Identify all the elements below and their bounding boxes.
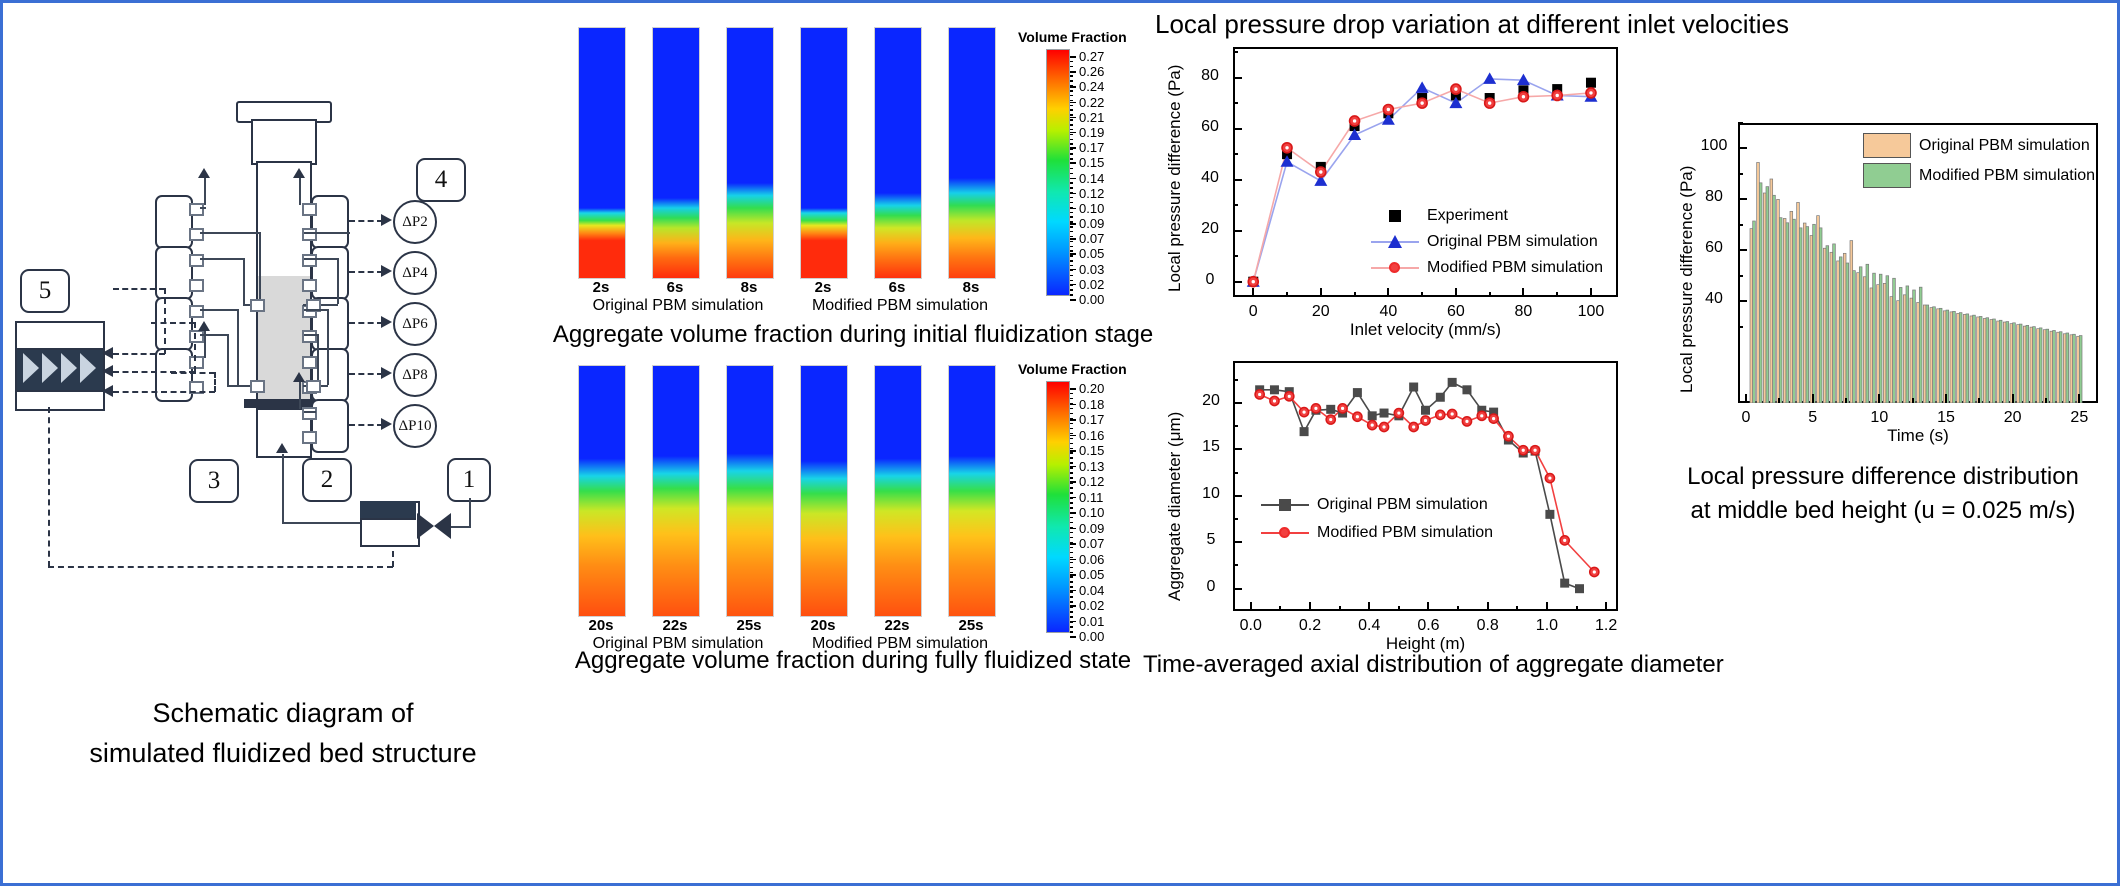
schematic-label-1: 1 [447, 458, 491, 502]
axis-tick [1738, 224, 1743, 226]
axis-tick-label: 0 [1233, 303, 1273, 321]
colorbar-tick-mark [1070, 435, 1076, 437]
colorbar-minor-tick [1070, 433, 1073, 435]
colorbar-minor-tick [1070, 532, 1073, 534]
bar-caption-line2: at middle bed height (u = 0.025 m/s) [1633, 497, 2120, 525]
axis-tick-label: 60 [1193, 118, 1227, 136]
axis-tick-label: 5 [1195, 531, 1227, 549]
axis-tick-label: 15 [1195, 438, 1227, 456]
axis-tick [1233, 255, 1238, 257]
colorbar-minor-tick [1070, 467, 1073, 469]
colorbar-minor-tick [1070, 100, 1073, 102]
signal-line [171, 372, 215, 374]
chart-pressure-drop: Local pressure drop variation at differe… [1143, 7, 1643, 347]
colorbar-minor-tick [1070, 542, 1073, 544]
colorbar-minor-tick [1070, 236, 1073, 238]
axis-tick-label: 10 [1195, 485, 1227, 503]
contour-image-orig-25s [726, 365, 774, 617]
axis-tick [1489, 292, 1491, 297]
signal-arrow-icon [381, 316, 392, 328]
axis-tick [1387, 288, 1389, 297]
colorbar-minor-tick [1070, 586, 1073, 588]
daq-in-arrow-icon [102, 347, 113, 359]
colorbar-minor-tick [1070, 105, 1073, 107]
colorbar-tick-label: 0.10 [1079, 505, 1104, 520]
legend-swatch-circle [1371, 262, 1419, 274]
contour-image-mod-25s [948, 365, 996, 617]
colorbar-minor-tick [1070, 280, 1073, 282]
dp-gauge-8: ΔP8 [393, 353, 437, 397]
colorbar-minor-tick [1070, 393, 1073, 395]
legend-label: Original PBM simulation [1317, 496, 1488, 514]
colorbar-minor-tick [1070, 631, 1073, 633]
contour-image-orig-6s [652, 27, 700, 279]
colorbar-minor-tick [1070, 173, 1073, 175]
axis-tick-label: 0.6 [1406, 617, 1450, 635]
contour-time-label: 22s [874, 617, 920, 634]
colorbar-tick-label: 0.04 [1079, 583, 1104, 598]
colorbar-minor-tick [1070, 452, 1073, 454]
signal-arrow-icon [381, 418, 392, 430]
axis-tick [1309, 602, 1311, 611]
axis-tick-label: 25 [2061, 409, 2097, 427]
colorbar-minor-tick [1070, 182, 1073, 184]
inlet-line [282, 454, 284, 482]
vent-line [299, 178, 301, 205]
colorbar-minor-tick [1070, 388, 1073, 390]
colorbar-minor-tick [1070, 621, 1073, 623]
sensor-port [302, 254, 317, 267]
colorbar-tick-label: 0.22 [1079, 95, 1104, 110]
colorbar-minor-tick [1070, 289, 1073, 291]
colorbar-tick-label: 0.12 [1079, 474, 1104, 489]
contour-time-label: 2s [578, 279, 624, 296]
legend-item-experiment: Experiment [1371, 207, 1508, 225]
colorbar-minor-tick [1070, 591, 1073, 593]
axis-tick [1233, 102, 1238, 104]
contour-image-mod-6s [874, 27, 922, 279]
colorbar-tick-label: 0.05 [1079, 567, 1104, 582]
contour-image-orig-22s [652, 365, 700, 617]
colorbar-minor-tick [1070, 562, 1073, 564]
legend-label: Modified PBM simulation [1427, 259, 1603, 277]
colorbar-minor-tick [1070, 487, 1073, 489]
chart-legend: Original PBM simulation Modified PBM sim… [1863, 133, 2113, 193]
axis-tick-label: 15 [1928, 409, 1964, 427]
signal-arrow-icon [381, 214, 392, 226]
colorbar-minor-tick [1070, 557, 1073, 559]
inlet-line [451, 526, 471, 528]
legend-item-modified-pbm: Modified PBM simulation [1371, 259, 1603, 277]
colorbar-title: Volume Fraction [1018, 29, 1127, 45]
axis-tick [1576, 606, 1578, 611]
signal-line [349, 271, 383, 273]
colorbar-minor-tick [1070, 497, 1073, 499]
colorbar-tick-label: 0.15 [1079, 443, 1104, 458]
legend-item-original-pbm: Original PBM simulation [1261, 496, 1488, 514]
axis-tick [1339, 606, 1341, 611]
colorbar-minor-tick [1070, 202, 1073, 204]
contour-time-label: 25s [726, 617, 772, 634]
signal-arrow-icon [381, 265, 392, 277]
axis-tick [1233, 51, 1238, 53]
axis-tick-label: 0 [1193, 271, 1227, 289]
axis-tick-label: 0.2 [1288, 617, 1332, 635]
colorbar-minor-tick [1070, 438, 1073, 440]
colorbar-minor-tick [1070, 606, 1073, 608]
colorbar-minor-tick [1070, 477, 1073, 479]
axis-tick [1368, 602, 1370, 611]
chart-bar-pressure: 4060801000510152025 Local pressure diffe… [1663, 73, 2113, 543]
axis-tick [1738, 275, 1743, 277]
tube [237, 309, 239, 385]
axis-tick [1354, 292, 1356, 297]
colorbar-tick-label: 0.02 [1079, 277, 1104, 292]
contour-time-label: 8s [726, 279, 772, 296]
legend-item-modified-pbm: Modified PBM simulation [1863, 163, 2095, 188]
tube [337, 258, 339, 304]
signal-line [151, 322, 195, 324]
axis-tick [1738, 198, 1747, 200]
colorbar-minor-tick [1070, 443, 1073, 445]
contour-image-mod-22s [874, 365, 922, 617]
axis-tick [1590, 288, 1592, 297]
axis-tick [1878, 394, 1880, 403]
colorbar-tick-mark [1070, 117, 1076, 119]
colorbar-minor-tick [1070, 212, 1073, 214]
colorbar-minor-tick [1070, 492, 1073, 494]
sensor-left-3 [155, 297, 193, 351]
colorbar-minor-tick [1070, 611, 1073, 613]
bar-caption-line1: Local pressure difference distribution [1633, 463, 2120, 491]
colorbar-tick-mark [1070, 223, 1076, 225]
colorbar-minor-tick [1070, 413, 1073, 415]
axis-tick-label: 100 [1696, 137, 1732, 155]
colorbar-minor-tick [1070, 482, 1073, 484]
contour-top-caption: Aggregate volume fraction during initial… [453, 321, 1253, 349]
axis-tick [1457, 606, 1459, 611]
contour-time-label: 6s [652, 279, 698, 296]
tube [243, 258, 245, 304]
axis-tick-label: 40 [1368, 303, 1408, 321]
axis-tick [1233, 402, 1242, 404]
legend-label: Original PBM simulation [1919, 137, 2090, 155]
axis-tick [1605, 602, 1607, 611]
colorbar-minor-tick [1070, 255, 1073, 257]
colorbar-minor-tick [1070, 527, 1073, 529]
axis-tick [1286, 292, 1288, 297]
colorbar-minor-tick [1070, 275, 1073, 277]
chart-aggregate-caption: Time-averaged axial distribution of aggr… [1143, 651, 1783, 679]
colorbar-tick-label: 0.10 [1079, 201, 1104, 216]
axis-tick [1978, 398, 1980, 403]
tube [200, 258, 244, 260]
daq-in-arrow-icon [102, 365, 113, 377]
sensor-port [302, 279, 317, 292]
tube [304, 232, 350, 234]
tube [304, 334, 318, 336]
tube [317, 334, 319, 385]
axis-tick [1738, 147, 1747, 149]
axis-tick-label: 20 [1195, 392, 1227, 410]
chart-y-axis-label: Aggregate diameter (μm) [1165, 412, 1185, 601]
chart-legend: Original PBM simulation Modified PBM sim… [1261, 496, 1521, 552]
axis-tick [1233, 518, 1238, 520]
contour-group-label-original: Original PBM simulation [563, 297, 793, 315]
colorbar-tick-mark [1070, 574, 1076, 576]
contour-time-label: 6s [874, 279, 920, 296]
colorbar-minor-tick [1070, 71, 1073, 73]
colorbar-minor-tick [1070, 168, 1073, 170]
axis-tick [1556, 292, 1558, 297]
daq-in-arrow-icon [102, 385, 113, 397]
axis-tick [1233, 379, 1238, 381]
axis-tick [1945, 394, 1947, 403]
axis-tick [1745, 394, 1747, 403]
colorbar-tick-label: 0.15 [1079, 155, 1104, 170]
contour-time-label: 20s [578, 617, 624, 634]
contour-bottom-caption: Aggregate volume fraction during fully f… [453, 647, 1253, 675]
legend-label: Experiment [1427, 207, 1508, 225]
inlet-arrow-icon [276, 443, 288, 453]
tube [304, 411, 316, 413]
schematic-label-3: 3 [189, 459, 239, 503]
sensor-port [189, 203, 204, 216]
colorbar-tick-label: 0.17 [1079, 140, 1104, 155]
vent-line [204, 178, 206, 205]
colorbar-minor-tick [1070, 61, 1073, 63]
axis-tick [1233, 541, 1242, 543]
chart-aggregate-diameter: 051015200.00.20.40.60.81.01.2 Aggregate … [1143, 351, 1643, 681]
colorbar-minor-tick [1070, 207, 1073, 209]
legend-swatch-circle [1261, 527, 1309, 539]
legend-swatch-square [1371, 210, 1419, 222]
axis-tick-label: 40 [1193, 169, 1227, 187]
axis-tick-label: 0.8 [1466, 617, 1510, 635]
colorbar-minor-tick [1070, 134, 1073, 136]
colorbar-minor-tick [1070, 567, 1073, 569]
axis-tick [1845, 398, 1847, 403]
sensor-port [302, 330, 317, 343]
axis-tick [1398, 606, 1400, 611]
colorbar-tick-label: 0.24 [1079, 79, 1104, 94]
column-tap [250, 299, 265, 312]
signal-line [48, 407, 50, 567]
colorbar-tick-label: 0.02 [1079, 598, 1104, 613]
sensor-port [302, 407, 317, 420]
axis-tick [1812, 394, 1814, 403]
column-cone [251, 119, 317, 165]
vent-arrow-icon [198, 321, 210, 331]
column-tap [306, 380, 321, 393]
sensor-port [302, 356, 317, 369]
tube [304, 258, 338, 260]
sensor-left-1 [155, 195, 193, 249]
colorbar-bottom: Volume Fraction 0.200.180.170.160.150.13… [1018, 361, 1138, 641]
axis-tick [1233, 448, 1242, 450]
colorbar-minor-tick [1070, 626, 1073, 628]
colorbar-minor-tick [1070, 408, 1073, 410]
axis-tick-label: 5 [1795, 409, 1831, 427]
colorbar-minor-tick [1070, 299, 1073, 301]
vent-line [200, 207, 206, 209]
colorbar-minor-tick [1070, 547, 1073, 549]
vent-arrow-icon [293, 168, 305, 178]
signal-line [349, 424, 383, 426]
colorbar-minor-tick [1070, 472, 1073, 474]
colorbar-minor-tick [1070, 507, 1073, 509]
colorbar-minor-tick [1070, 448, 1073, 450]
tube [327, 309, 329, 385]
colorbar-minor-tick [1070, 596, 1073, 598]
axis-tick-label: 20 [1301, 303, 1341, 321]
signal-line [214, 372, 216, 392]
axis-tick [1233, 564, 1238, 566]
legend-label: Original PBM simulation [1427, 233, 1598, 251]
colorbar-tick-label: 0.01 [1079, 614, 1104, 629]
colorbar-minor-tick [1070, 158, 1073, 160]
vent-arrow-icon [198, 168, 210, 178]
axis-tick [1233, 77, 1242, 79]
sensor-port [189, 254, 204, 267]
dp-gauge-4: ΔP4 [393, 251, 437, 295]
axis-tick-label: 1.0 [1525, 617, 1569, 635]
axis-tick-label: 100 [1571, 303, 1611, 321]
axis-tick [1738, 173, 1743, 175]
dp-gauge-10: ΔP10 [393, 404, 437, 448]
valve-right-icon [434, 513, 451, 539]
axis-tick [1522, 288, 1524, 297]
signal-arrow-icon [381, 367, 392, 379]
colorbar-tick-label: 0.09 [1079, 216, 1104, 231]
axis-tick-label: 0 [1195, 578, 1227, 596]
axis-tick [1421, 292, 1423, 297]
legend-item-original-pbm: Original PBM simulation [1371, 233, 1598, 251]
colorbar-minor-tick [1070, 163, 1073, 165]
colorbar-minor-tick [1070, 226, 1073, 228]
colorbar-tick-mark [1070, 559, 1076, 561]
colorbar-minor-tick [1070, 517, 1073, 519]
schematic-label-4: 4 [416, 158, 466, 202]
signal-line [349, 220, 383, 222]
colorbar-minor-tick [1070, 231, 1073, 233]
axis-tick [1738, 326, 1743, 328]
colorbar-minor-tick [1070, 148, 1073, 150]
axis-tick [1233, 128, 1242, 130]
axis-tick [2078, 394, 2080, 403]
colorbar-tick-mark [1070, 238, 1076, 240]
legend-label: Modified PBM simulation [1317, 524, 1493, 542]
colorbar-tick-label: 0.16 [1079, 428, 1104, 443]
signal-line [48, 566, 393, 568]
signal-line [194, 322, 196, 372]
valve-left-icon [417, 513, 434, 539]
colorbar-minor-tick [1070, 428, 1073, 430]
colorbar-tick-label: 0.07 [1079, 231, 1104, 246]
colorbar-tick-label: 0.27 [1079, 49, 1104, 64]
colorbar-minor-tick [1070, 119, 1073, 121]
colorbar-minor-tick [1070, 398, 1073, 400]
contour-time-label: 8s [948, 279, 994, 296]
colorbar-minor-tick [1070, 187, 1073, 189]
chart-x-axis-label: Inlet velocity (mm/s) [1233, 320, 1618, 340]
axis-tick [1233, 204, 1238, 206]
colorbar-minor-tick [1070, 636, 1073, 638]
colorbar-minor-tick [1070, 418, 1073, 420]
dp-gauge-6: ΔP6 [393, 302, 437, 346]
colorbar-minor-tick [1070, 403, 1073, 405]
axis-tick [1546, 602, 1548, 611]
axis-tick [1233, 425, 1238, 427]
axis-tick-label: 80 [1696, 188, 1732, 206]
colorbar-minor-tick [1070, 260, 1073, 262]
schematic-caption-line1: Schematic diagram of [3, 693, 563, 733]
colorbar-tick-label: 0.20 [1079, 381, 1104, 396]
sensor-left-4 [155, 348, 193, 402]
colorbar-minor-tick [1070, 95, 1073, 97]
contour-image-orig-20s [578, 365, 626, 617]
colorbar-tick-label: 0.17 [1079, 412, 1104, 427]
colorbar-minor-tick [1070, 502, 1073, 504]
schematic-label-5: 5 [20, 269, 70, 313]
tube [200, 232, 260, 234]
axis-tick [1427, 602, 1429, 611]
sensor-port [189, 279, 204, 292]
axis-tick [1778, 398, 1780, 403]
colorbar-minor-tick [1070, 216, 1073, 218]
colorbar-tick-label: 0.13 [1079, 459, 1104, 474]
axis-tick [1233, 230, 1242, 232]
chart-title: Local pressure drop variation at differe… [1155, 9, 1789, 40]
colorbar-minor-tick [1070, 601, 1073, 603]
inlet-line [469, 498, 471, 526]
colorbar-tick-label: 0.11 [1079, 490, 1103, 505]
vent-line [299, 382, 301, 409]
colorbar-minor-tick [1070, 129, 1073, 131]
pump-tank-top [360, 501, 416, 520]
chart-y-axis-label: Local pressure difference (Pa) [1677, 166, 1697, 393]
tube [200, 309, 238, 311]
colorbar-minor-tick [1070, 109, 1073, 111]
column-tap [250, 380, 265, 393]
colorbar-minor-tick [1070, 75, 1073, 77]
colorbar-minor-tick [1070, 114, 1073, 116]
colorbar-minor-tick [1070, 457, 1073, 459]
schematic-caption-line2: simulated fluidized bed structure [3, 733, 563, 773]
axis-tick-label: 60 [1436, 303, 1476, 321]
colorbar-minor-tick [1070, 192, 1073, 194]
colorbar-tick-label: 0.21 [1079, 110, 1104, 125]
contour-panel-top: 2s 6s 8s 2s 6s 8s Original PBM simulatio… [563, 13, 1143, 333]
contour-image-mod-20s [800, 365, 848, 617]
colorbar-tick-label: 0.14 [1079, 171, 1104, 186]
legend-label: Modified PBM simulation [1919, 167, 2095, 185]
colorbar-minor-tick [1070, 270, 1073, 272]
colorbar-tick-label: 0.09 [1079, 521, 1104, 536]
colorbar-tick-label: 0.05 [1079, 246, 1104, 261]
tube [259, 232, 261, 304]
colorbar-tick-label: 0.07 [1079, 536, 1104, 551]
colorbar-tick-mark [1070, 102, 1076, 104]
axis-tick [1233, 472, 1238, 474]
colorbar-minor-tick [1070, 143, 1073, 145]
contour-image-orig-2s [578, 27, 626, 279]
axis-tick-label: 10 [1861, 409, 1897, 427]
colorbar-minor-tick [1070, 250, 1073, 252]
contour-time-label: 2s [800, 279, 846, 296]
chart-x-axis-label: Time (s) [1738, 426, 2098, 446]
axis-tick [1252, 288, 1254, 297]
